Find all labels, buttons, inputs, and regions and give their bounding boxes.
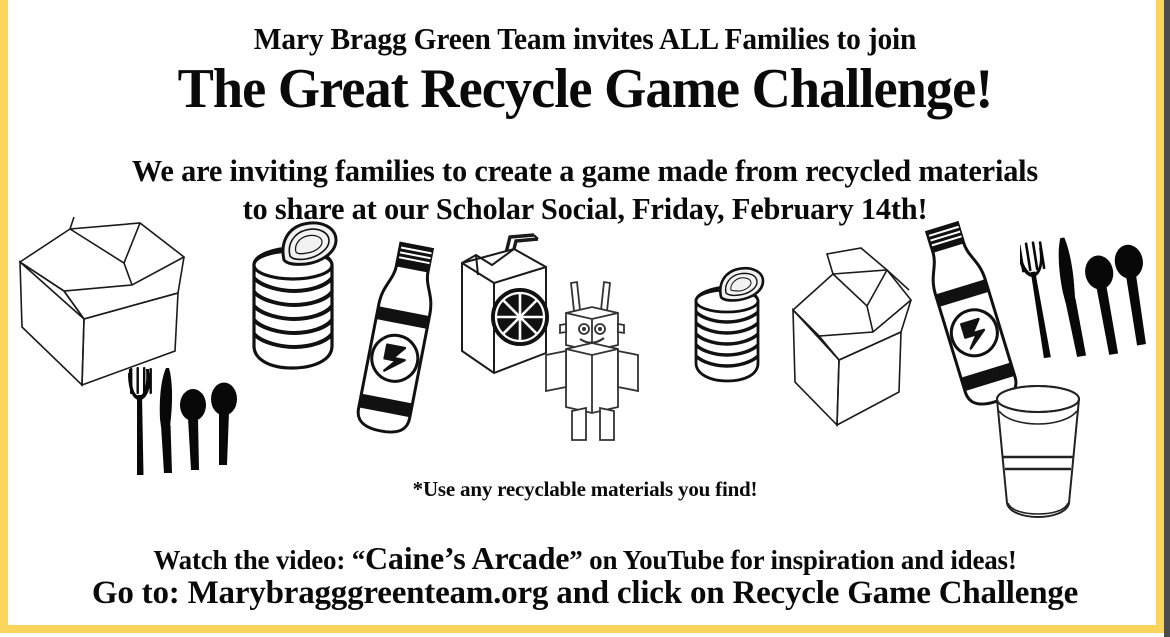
- poster-canvas: Mary Bragg Green Team invites ALL Famili…: [0, 0, 1170, 637]
- website-line: Go to: Marybragggreenteam.org and click …: [0, 573, 1170, 613]
- video-title: Caine’s Arcade: [365, 540, 569, 576]
- poster-kicker: Mary Bragg Green Team invites ALL Famili…: [29, 20, 1141, 58]
- page-title: The Great Recycle Game Challenge!: [18, 56, 1153, 122]
- watch-video-prefix: Watch the video: “: [153, 545, 365, 575]
- invite-line-2: to share at our Scholar Social, Friday, …: [12, 190, 1159, 228]
- materials-note: *Use any recyclable materials you find!: [0, 476, 1170, 503]
- watch-video-line: Watch the video: “Caine’s Arcade” on You…: [0, 541, 1170, 577]
- watch-video-suffix: ” on YouTube for inspiration and ideas!: [569, 545, 1016, 575]
- text-layer: Mary Bragg Green Team invites ALL Famili…: [0, 0, 1170, 637]
- invite-line-1: We are inviting families to create a gam…: [12, 152, 1159, 190]
